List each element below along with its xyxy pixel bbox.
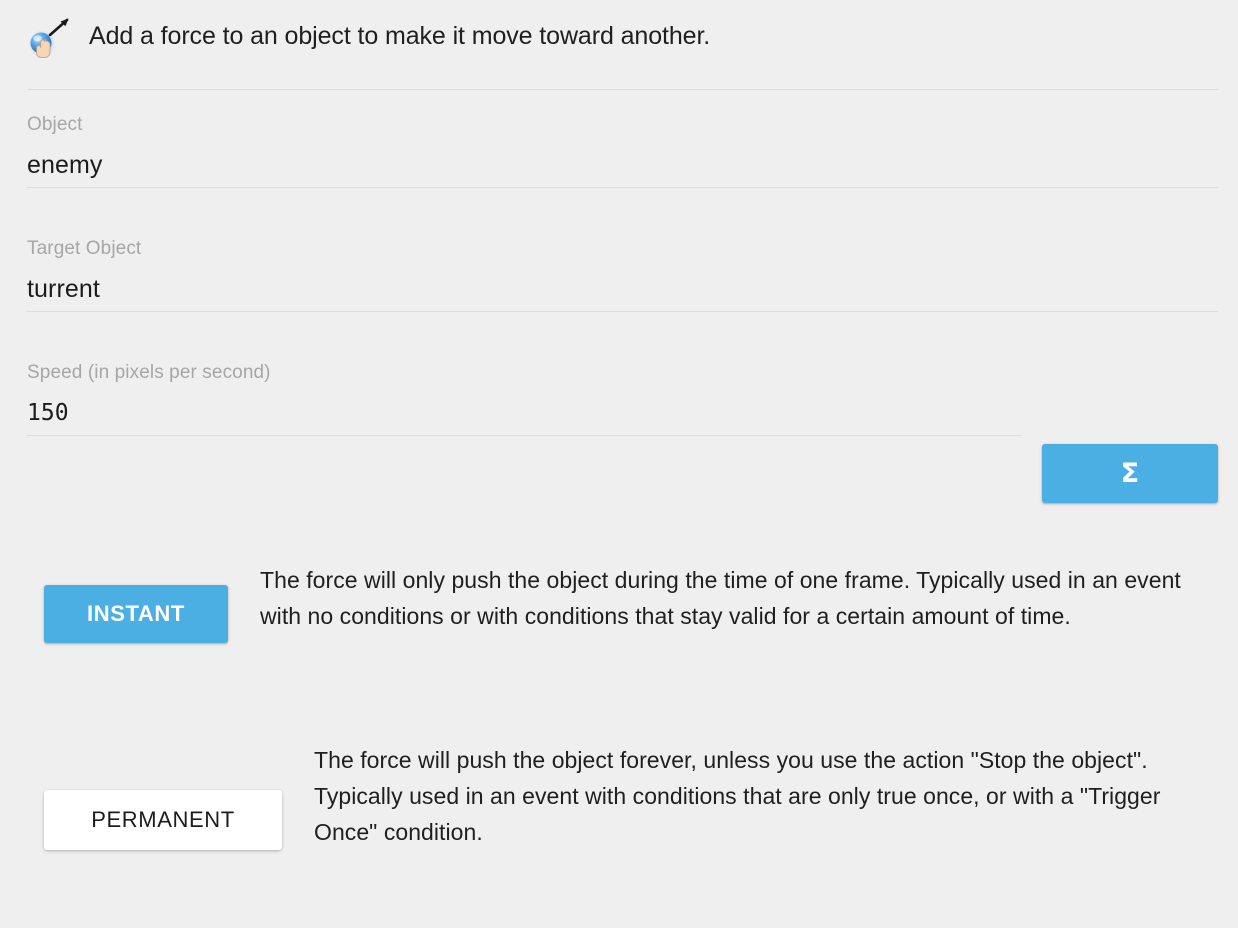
field-target-object: Target Object turrent <box>0 237 1238 312</box>
mode-row-permanent: PERMANENT The force will push the object… <box>0 740 1238 850</box>
field-target-object-underline <box>27 311 1218 312</box>
field-object-underline <box>27 187 1218 188</box>
field-object-input[interactable]: enemy <box>27 137 1238 187</box>
field-speed-underline <box>27 435 1022 436</box>
expression-editor-button[interactable]: Σ <box>1042 444 1218 503</box>
instant-mode-button[interactable]: INSTANT <box>44 585 228 643</box>
panel-title: Add a force to an object to make it move… <box>89 21 710 51</box>
instant-mode-description: The force will only push the object duri… <box>260 562 1200 634</box>
action-parameters-panel: Add a force to an object to make it move… <box>0 0 1238 928</box>
field-target-object-label: Target Object <box>27 237 1238 261</box>
force-push-object-icon <box>27 17 73 59</box>
field-object: Object enemy <box>0 113 1238 188</box>
field-speed: Speed (in pixels per second) 150 <box>0 361 1238 436</box>
header-divider <box>28 89 1218 90</box>
parameter-fields: Object enemy Target Object turrent Speed… <box>0 113 1238 436</box>
field-speed-label: Speed (in pixels per second) <box>27 361 1238 385</box>
panel-header: Add a force to an object to make it move… <box>0 0 1238 56</box>
field-object-label: Object <box>27 113 1238 137</box>
permanent-mode-description: The force will push the object forever, … <box>314 742 1194 850</box>
mode-row-instant: INSTANT The force will only push the obj… <box>0 560 1238 643</box>
permanent-mode-button[interactable]: PERMANENT <box>44 790 282 850</box>
field-speed-input[interactable]: 150 <box>27 385 1238 435</box>
field-target-object-input[interactable]: turrent <box>27 261 1238 311</box>
